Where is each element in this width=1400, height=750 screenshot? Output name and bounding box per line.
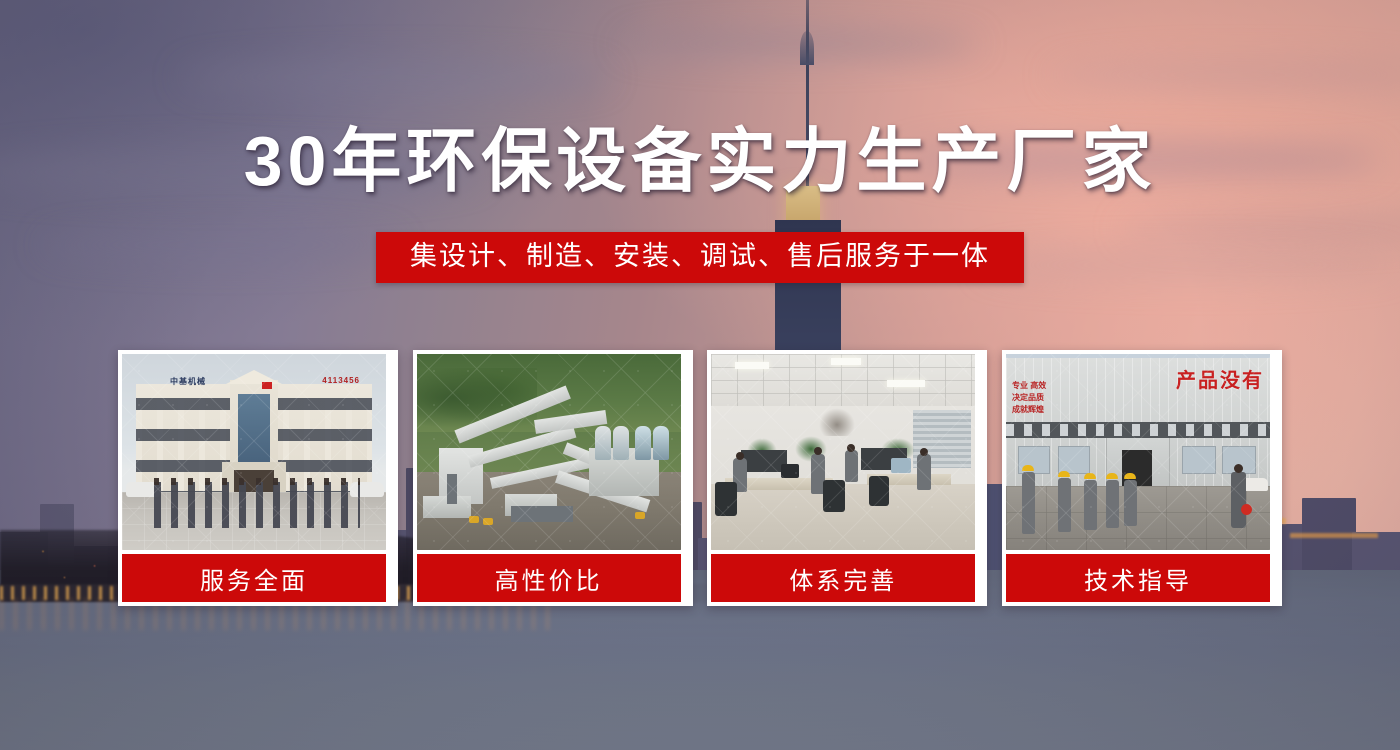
- photo-hard-hat: [1022, 465, 1034, 471]
- photo-worker: [1124, 480, 1137, 526]
- photo-chair: [715, 482, 737, 516]
- photo-hard-hat: [1106, 473, 1118, 479]
- photo-stack: [447, 474, 457, 504]
- photo-worker: [1058, 478, 1071, 532]
- photo-loader: [483, 518, 493, 525]
- photo-ceiling-light: [735, 362, 769, 369]
- subtitle-wrap: 集设计、制造、安装、调试、售后服务于一体: [0, 232, 1400, 283]
- photo-factory-slogan: 产品没有: [1176, 364, 1264, 393]
- card-caption: 高性价比: [417, 554, 681, 602]
- photo-silo: [595, 426, 611, 460]
- photo-person: [845, 450, 858, 482]
- subtitle-banner: 集设计、制造、安装、调试、售后服务于一体: [376, 232, 1024, 283]
- card-caption: 体系完善: [711, 554, 975, 602]
- card-caption: 技术指导: [1006, 554, 1270, 602]
- photo-flag: [262, 382, 272, 389]
- photo-wall-decal: [819, 408, 855, 436]
- photo-silo: [653, 426, 669, 460]
- photo-hard-hat: [1058, 471, 1070, 477]
- photo-ceiling-light: [831, 358, 861, 365]
- photo-silo: [613, 426, 629, 460]
- company-building-photo: 中基机械 4113456: [122, 354, 386, 550]
- card-caption: 服务全面: [122, 554, 386, 602]
- workers-training-photo: 产品没有 专业 高效决定品质成就辉煌: [1006, 354, 1270, 550]
- photo-hard-hat: [1124, 473, 1136, 479]
- photo-plant-complex: [439, 412, 669, 518]
- photo-glass-atrium: [238, 394, 270, 472]
- photo-chair: [869, 476, 889, 506]
- photo-ceiling-light: [887, 380, 925, 387]
- office-interior-photo: [711, 354, 975, 550]
- photo-worker: [1106, 480, 1119, 528]
- hero-banner: 30年环保设备实力生产厂家 集设计、制造、安装、调试、售后服务于一体 中基机械 …: [0, 0, 1400, 750]
- photo-chair: [823, 480, 845, 512]
- photo-window: [1058, 446, 1090, 474]
- feature-card[interactable]: 体系完善: [707, 350, 987, 606]
- photo-phone-number: 4113456: [322, 376, 360, 385]
- photo-supervisor: [1231, 472, 1246, 528]
- photo-red-helmet: [1241, 504, 1252, 515]
- photo-window-band-panes: [1006, 424, 1270, 436]
- photo-window: [1182, 446, 1216, 474]
- photo-roof-gable: [226, 370, 282, 384]
- photo-staff-row: [154, 482, 360, 528]
- photo-monitor: [891, 458, 911, 473]
- photo-silo: [635, 426, 651, 460]
- page-title: 30年环保设备实力生产厂家: [0, 124, 1400, 198]
- photo-worker: [1022, 472, 1035, 534]
- photo-supervisor-head: [1234, 464, 1243, 473]
- aerial-plant-photo: [417, 354, 681, 550]
- photo-staff-heads: [154, 478, 360, 485]
- photo-factory-subslogan: 专业 高效决定品质成就辉煌: [1012, 380, 1046, 416]
- photo-monitor: [781, 464, 799, 478]
- photo-hard-hat: [1084, 473, 1096, 479]
- photo-loader: [469, 516, 479, 523]
- photo-person: [917, 454, 931, 490]
- feature-card-list: 中基机械 4113456 服务全面: [118, 350, 1282, 606]
- feature-card[interactable]: 高性价比: [413, 350, 693, 606]
- feature-card[interactable]: 中基机械 4113456 服务全面: [118, 350, 398, 606]
- photo-company-sign: 中基机械: [170, 376, 206, 387]
- photo-worker: [1084, 480, 1097, 530]
- feature-card[interactable]: 产品没有 专业 高效决定品质成就辉煌: [1002, 350, 1282, 606]
- photo-canopy: [511, 506, 573, 522]
- photo-loader: [635, 512, 645, 519]
